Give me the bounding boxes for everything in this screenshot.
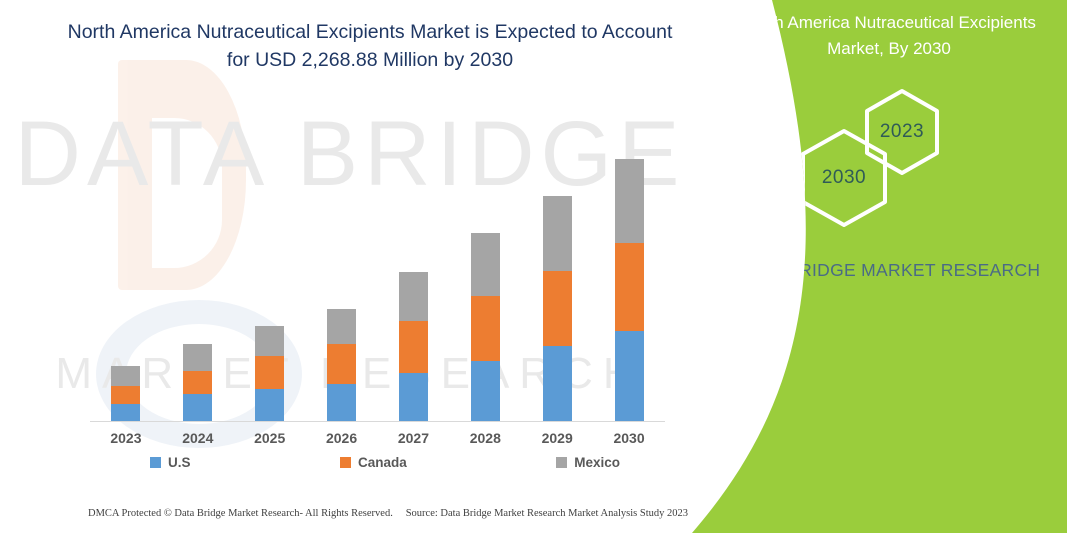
bar-segment-canada — [399, 321, 428, 373]
bar-group — [449, 140, 521, 421]
chart-panel: North America Nutraceutical Excipients M… — [0, 0, 720, 533]
bar-segment-us — [255, 389, 284, 421]
green-side-panel: North America Nutraceutical Excipients M… — [667, 0, 1067, 533]
side-panel-brand: DATA BRIDGE MARKET RESEARCH — [729, 258, 1049, 283]
bar-group — [521, 140, 593, 421]
legend-item-mexico[interactable]: Mexico — [556, 455, 620, 470]
bar-group — [378, 140, 450, 421]
bar-segment-mexico — [111, 366, 140, 386]
bar-segment-canada — [615, 243, 644, 331]
bar-group — [162, 140, 234, 421]
bar-segment-canada — [111, 386, 140, 404]
bar-segment-us — [111, 404, 140, 421]
bar-group — [593, 140, 665, 421]
bar-segment-us — [327, 384, 356, 421]
bar-stack[interactable] — [399, 272, 428, 421]
bar-stack[interactable] — [543, 196, 572, 421]
x-axis-label-2026: 2026 — [306, 430, 378, 446]
x-axis-label-2030: 2030 — [593, 430, 665, 446]
chart-plot-area — [90, 140, 665, 422]
bar-group — [90, 140, 162, 421]
x-axis-labels: 20232024202520262027202820292030 — [90, 430, 665, 446]
legend-label: U.S — [168, 455, 191, 470]
bar-segment-us — [615, 331, 644, 421]
bar-segment-us — [471, 361, 500, 421]
bar-segment-canada — [183, 371, 212, 394]
chart-legend: U.SCanadaMexico — [150, 455, 620, 470]
chart-title: North America Nutraceutical Excipients M… — [60, 18, 680, 74]
bar-segment-canada — [543, 271, 572, 346]
side-panel-title: North America Nutraceutical Excipients M… — [729, 10, 1049, 62]
x-axis-label-2024: 2024 — [162, 430, 234, 446]
footer: DMCA Protected © Data Bridge Market Rese… — [88, 508, 688, 519]
bar-segment-canada — [255, 356, 284, 389]
infographic-root: DATA BRIDGE MARKET RESEARCH North Americ… — [0, 0, 1067, 533]
bar-segment-mexico — [255, 326, 284, 356]
x-axis-label-2025: 2025 — [234, 430, 306, 446]
bar-segment-mexico — [327, 309, 356, 344]
bar-segment-mexico — [543, 196, 572, 271]
bar-stack[interactable] — [255, 326, 284, 421]
legend-swatch-icon — [340, 457, 351, 468]
bar-stack[interactable] — [615, 159, 644, 421]
x-axis-label-2023: 2023 — [90, 430, 162, 446]
bar-group — [306, 140, 378, 421]
legend-swatch-icon — [150, 457, 161, 468]
legend-label: Mexico — [574, 455, 620, 470]
bar-stack[interactable] — [183, 344, 212, 421]
bar-segment-us — [183, 394, 212, 421]
bar-stack[interactable] — [111, 366, 140, 421]
bar-segment-mexico — [471, 233, 500, 296]
bar-segment-canada — [327, 344, 356, 384]
legend-item-canada[interactable]: Canada — [340, 455, 407, 470]
footer-source: Source: Data Bridge Market Research Mark… — [406, 508, 688, 519]
x-axis-label-2029: 2029 — [521, 430, 593, 446]
bar-stack[interactable] — [327, 309, 356, 421]
bar-segment-mexico — [183, 344, 212, 371]
bar-stack[interactable] — [471, 233, 500, 421]
bar-segment-us — [399, 373, 428, 421]
bar-segment-mexico — [615, 159, 644, 243]
x-axis-label-2027: 2027 — [378, 430, 450, 446]
legend-item-us[interactable]: U.S — [150, 455, 191, 470]
bar-segment-mexico — [399, 272, 428, 321]
legend-swatch-icon — [556, 457, 567, 468]
bar-segment-canada — [471, 296, 500, 361]
hex-badge-2030-label: 2030 — [822, 167, 866, 189]
bar-group — [234, 140, 306, 421]
legend-label: Canada — [358, 455, 407, 470]
x-axis-line — [90, 421, 665, 422]
x-axis-label-2028: 2028 — [449, 430, 521, 446]
hex-badge-group: 2023 2030 — [727, 88, 1047, 213]
footer-copyright: DMCA Protected © Data Bridge Market Rese… — [88, 508, 393, 519]
bar-segment-us — [543, 346, 572, 421]
hex-badge-2030: 2030 — [799, 128, 889, 228]
bar-series-container — [90, 140, 665, 421]
